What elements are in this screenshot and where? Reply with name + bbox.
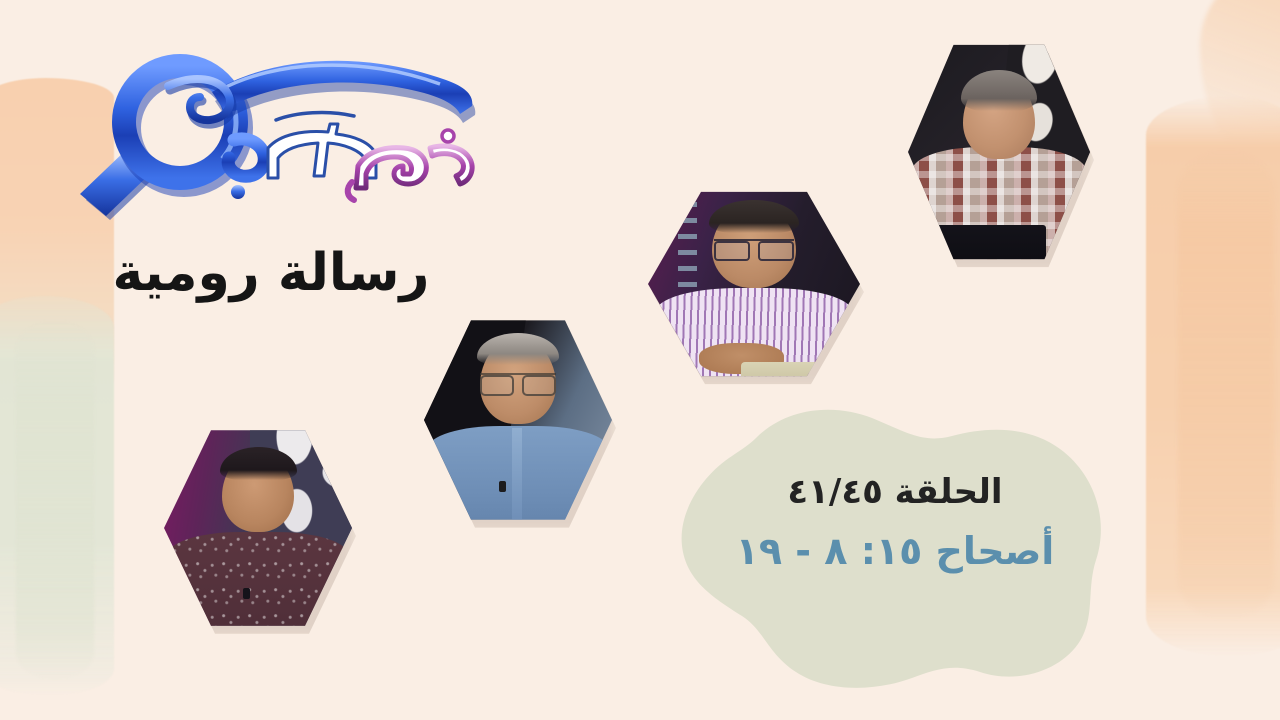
guest-glasses [714, 239, 795, 257]
scripture-reference-label: أصحاح ١٥: ٨ - ١٩ [700, 528, 1090, 576]
title-card-canvas: رسالة رومية الحلقة ٤١/٤٥ أصحاح ١٥: ٨ - ١… [0, 0, 1280, 720]
lapel-microphone [499, 481, 506, 492]
watercolor-stroke-peach-right-top [1200, 0, 1280, 160]
watercolor-stroke-green-left-accent [16, 320, 94, 680]
watercolor-stroke-green-left [0, 296, 114, 696]
program-logo[interactable] [62, 44, 482, 224]
lapel-microphone [243, 588, 250, 599]
episode-number-label: الحلقة ٤١/٤٥ [700, 470, 1090, 514]
guest-shirt-maroon [168, 532, 348, 632]
shirt-placket [512, 428, 521, 526]
guest-glasses [480, 373, 555, 392]
episode-info: الحلقة ٤١/٤٥ أصحاح ١٥: ٨ - ١٩ [700, 470, 1090, 576]
page-title: رسالة رومية [96, 246, 446, 301]
watercolor-stroke-peach-right-accent [1178, 150, 1274, 620]
watercolor-stroke-peach-right [1146, 96, 1280, 656]
